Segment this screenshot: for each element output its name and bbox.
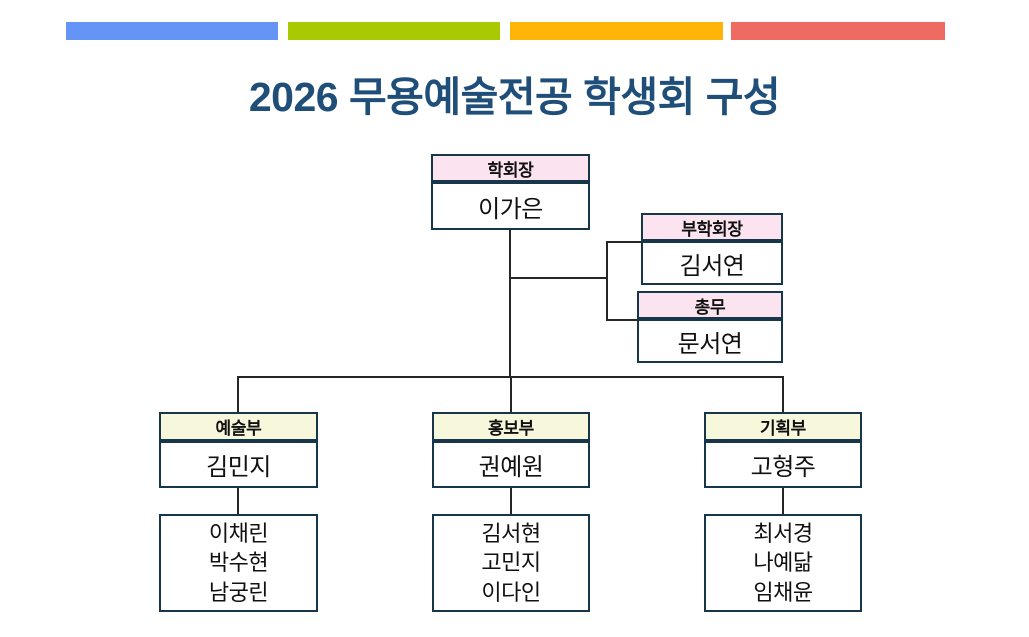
green-bar: [288, 22, 500, 40]
connector-members-drop-2: [510, 488, 512, 514]
connector-members-drop-1: [237, 488, 239, 514]
connector-exec-stub: [509, 277, 608, 279]
node-department-3-role[interactable]: 기획부: [704, 412, 862, 441]
node-department-2-role[interactable]: 홍보부: [432, 412, 590, 441]
connector-members-drop-3: [782, 488, 784, 514]
page-title: 2026 무용예술전공 학생회 구성: [0, 63, 1029, 123]
node-president-name[interactable]: 이가은: [431, 182, 590, 230]
connector-president-trunk: [509, 230, 511, 378]
member-name: 고민지: [481, 548, 540, 577]
node-department-2-lead[interactable]: 권예원: [432, 441, 590, 488]
node-vice-president-role[interactable]: 부학회장: [641, 213, 783, 241]
node-department-1-role[interactable]: 예술부: [159, 412, 318, 441]
node-president-role[interactable]: 학회장: [431, 154, 590, 182]
member-name: 남궁린: [209, 578, 268, 607]
connector-exec-spine: [606, 241, 608, 321]
node-department-2-members[interactable]: 김서현 고민지 이다인: [432, 514, 590, 612]
connector-drop-dept-3: [782, 376, 784, 412]
node-department-1-members[interactable]: 이채린 박수현 남궁린: [159, 514, 318, 612]
red-bar: [731, 22, 945, 40]
connector-treasurer: [606, 319, 638, 321]
member-name: 임채윤: [753, 578, 812, 607]
member-name: 나예닮: [753, 548, 812, 577]
member-name: 박수현: [209, 548, 268, 577]
orange-bar: [510, 22, 723, 40]
node-treasurer-name[interactable]: 문서연: [637, 319, 783, 363]
connector-drop-dept-1: [237, 376, 239, 412]
connector-drop-dept-2: [510, 376, 512, 412]
member-name: 최서경: [753, 519, 812, 548]
member-name: 김서현: [481, 519, 540, 548]
slide-canvas: 2026 무용예술전공 학생회 구성 학회장 이가은 부학회장 김서연 총무 문…: [0, 0, 1029, 637]
member-name: 이채린: [209, 519, 268, 548]
node-department-3-members[interactable]: 최서경 나예닮 임채윤: [704, 514, 862, 612]
node-department-3-lead[interactable]: 고형주: [704, 441, 862, 488]
connector-vice-president: [606, 241, 644, 243]
blue-bar: [66, 22, 278, 40]
member-name: 이다인: [481, 578, 540, 607]
node-treasurer-role[interactable]: 총무: [637, 291, 783, 319]
node-vice-president-name[interactable]: 김서연: [641, 241, 783, 285]
node-department-1-lead[interactable]: 김민지: [159, 441, 318, 488]
